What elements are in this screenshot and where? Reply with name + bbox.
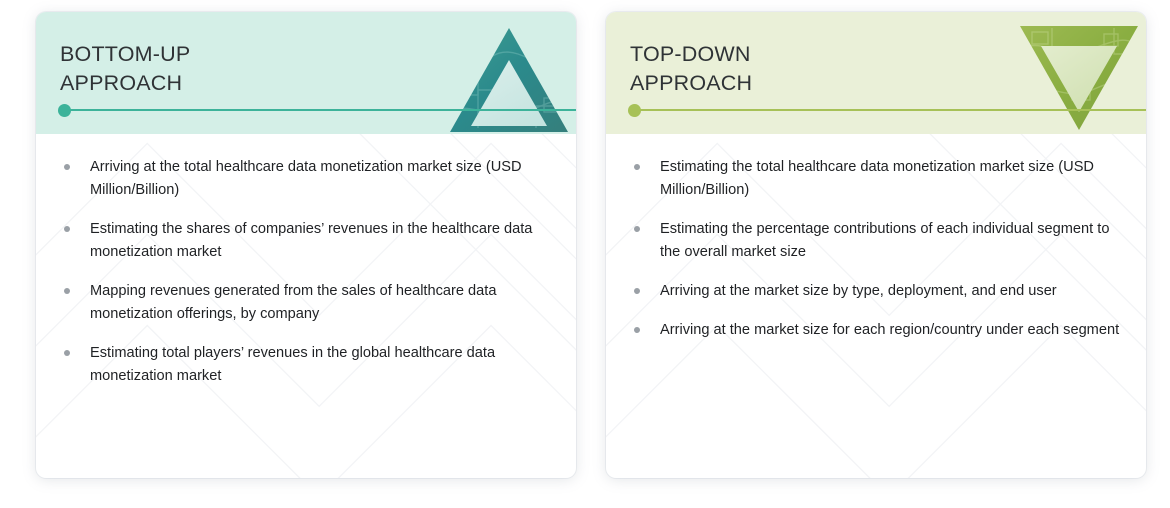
- list-item: Estimating the shares of companies’ reve…: [60, 218, 550, 264]
- header-rule-top-down: [628, 103, 1146, 117]
- card-header-bottom-up: BOTTOM-UP APPROACH: [36, 12, 576, 134]
- bullet-text: Mapping revenues generated from the sale…: [90, 280, 550, 326]
- bullet-dot-icon: [64, 288, 70, 294]
- list-item: Arriving at the total healthcare data mo…: [60, 156, 550, 202]
- bullet-text: Estimating the total healthcare data mon…: [660, 156, 1120, 202]
- bullet-dot-icon: [64, 226, 70, 232]
- bullet-dot-icon: [634, 226, 640, 232]
- list-item: Mapping revenues generated from the sale…: [60, 280, 550, 326]
- card-bottom-up: BOTTOM-UP APPROACH: [36, 12, 576, 478]
- bullet-text: Estimating the shares of companies’ reve…: [90, 218, 550, 264]
- bullet-text: Arriving at the market size for each reg…: [660, 319, 1119, 342]
- card-body-top-down: Estimating the total healthcare data mon…: [606, 134, 1146, 478]
- card-header-top-down: TOP-DOWN APPROACH: [606, 12, 1146, 134]
- bullet-text: Arriving at the market size by type, dep…: [660, 280, 1057, 303]
- bullet-dot-icon: [64, 164, 70, 170]
- header-rule-bottom-up: [58, 103, 576, 117]
- triangle-up-icon: [448, 24, 570, 134]
- bullet-dot-icon: [634, 327, 640, 333]
- list-item: Arriving at the market size for each reg…: [630, 319, 1120, 342]
- list-item: Arriving at the market size by type, dep…: [630, 280, 1120, 303]
- bullet-dot-icon: [634, 164, 640, 170]
- bullet-dot-icon: [634, 288, 640, 294]
- list-item: Estimating total players’ revenues in th…: [60, 342, 550, 388]
- card-top-down: TOP-DOWN APPROACH: [606, 12, 1146, 478]
- bullet-text: Estimating the percentage contributions …: [660, 218, 1120, 264]
- list-item: Estimating the total healthcare data mon…: [630, 156, 1120, 202]
- bullet-text: Arriving at the total healthcare data mo…: [90, 156, 550, 202]
- rule-line: [640, 109, 1146, 111]
- bullet-list-top-down: Estimating the total healthcare data mon…: [630, 156, 1120, 342]
- rule-line: [70, 109, 576, 111]
- card-title-bottom-up: BOTTOM-UP APPROACH: [60, 40, 190, 98]
- list-item: Estimating the percentage contributions …: [630, 218, 1120, 264]
- triangle-down-icon: [1018, 24, 1140, 134]
- card-title-top-down: TOP-DOWN APPROACH: [630, 40, 752, 98]
- infographic-page: BOTTOM-UP APPROACH: [0, 0, 1170, 508]
- card-body-bottom-up: Arriving at the total healthcare data mo…: [36, 134, 576, 478]
- bullet-dot-icon: [64, 350, 70, 356]
- bullet-text: Estimating total players’ revenues in th…: [90, 342, 550, 388]
- bullet-list-bottom-up: Arriving at the total healthcare data mo…: [60, 156, 550, 388]
